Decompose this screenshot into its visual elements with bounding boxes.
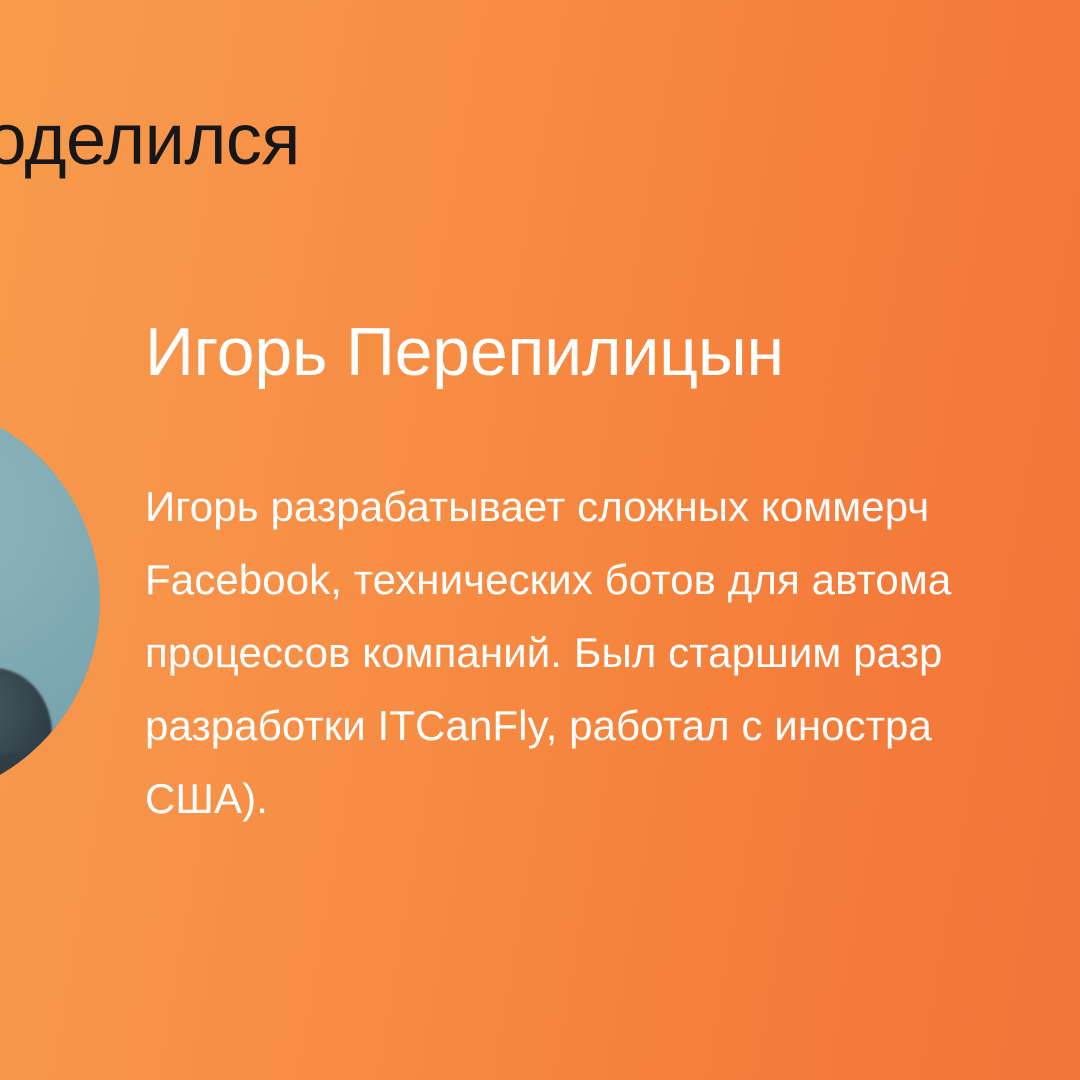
page-title: поделился (0, 104, 300, 176)
bio-line: США). (145, 762, 1080, 835)
bio-line: Facebook, технических ботов для автома (145, 543, 1080, 616)
speaker-bio: Игорь разрабатывает сложных коммерч Face… (145, 470, 1080, 835)
slide-canvas: поделился Игорь Перепилицын Игорь разраб… (0, 0, 1080, 1080)
avatar (0, 400, 100, 802)
bio-line: Игорь разрабатывает сложных коммерч (145, 470, 1080, 543)
bio-line: процессов компаний. Был старшим разр (145, 616, 1080, 689)
bio-line: разработки ITCanFly, работал с иностра (145, 689, 1080, 762)
speaker-name: Игорь Перепилицын (145, 318, 784, 386)
